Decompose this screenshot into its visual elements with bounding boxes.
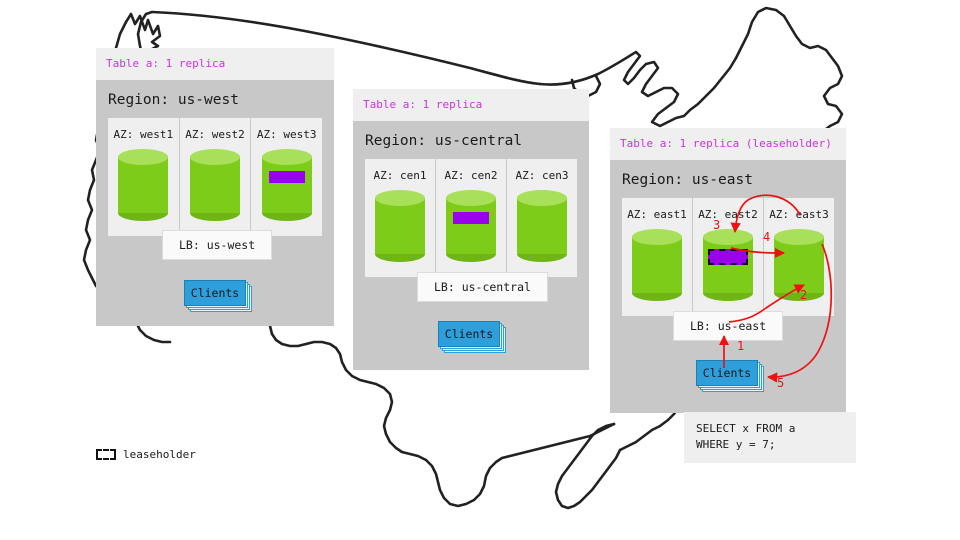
az-cell-east2[interactable]: AZ: east2	[692, 198, 763, 316]
cylinder-top	[190, 149, 240, 165]
node-cylinder-east1[interactable]	[632, 229, 682, 301]
az-label-cen1: AZ: cen1	[365, 159, 435, 182]
cylinder-top	[632, 229, 682, 245]
cylinder-top	[517, 190, 567, 206]
az-label-west3: AZ: west3	[251, 118, 322, 141]
cylinder-body	[632, 237, 682, 293]
step-number-4: 4	[763, 230, 770, 244]
cylinder-top	[375, 190, 425, 206]
node-cylinder-east2[interactable]	[703, 229, 753, 301]
az-cell-cen1[interactable]: AZ: cen1	[365, 159, 435, 277]
az-label-west2: AZ: west2	[180, 118, 251, 141]
az-label-cen2: AZ: cen2	[436, 159, 506, 182]
step-number-1: 1	[737, 339, 744, 353]
replica-marker-west3	[269, 171, 305, 183]
cylinder-top	[703, 229, 753, 245]
node-cylinder-cen2[interactable]	[446, 190, 496, 262]
region-panel-us-central: Table a: 1 replica Region: us-central AZ…	[353, 89, 589, 370]
clients-stack-us-west[interactable]: Clients	[184, 280, 246, 306]
legend: leaseholder	[96, 448, 196, 461]
replica-marker-east2-leaseholder	[708, 249, 748, 265]
diagram-canvas: Table a: 1 replica Region: us-west AZ: w…	[0, 0, 960, 540]
az-cell-cen2[interactable]: AZ: cen2	[435, 159, 506, 277]
node-cylinder-west1[interactable]	[118, 149, 168, 221]
region-title-us-west: Region: us-west	[96, 80, 334, 118]
table-replica-label-us-east: Table a: 1 replica (leaseholder)	[610, 128, 846, 160]
az-label-east1: AZ: east1	[622, 198, 692, 221]
clients-stack-us-central[interactable]: Clients	[438, 321, 500, 347]
az-label-east2: AZ: east2	[693, 198, 763, 221]
az-label-cen3: AZ: cen3	[507, 159, 577, 182]
cylinder-body	[703, 237, 753, 293]
cylinder-top	[118, 149, 168, 165]
table-replica-label-us-west: Table a: 1 replica	[96, 48, 334, 80]
cylinder-body	[517, 198, 567, 254]
table-replica-label-us-central: Table a: 1 replica	[353, 89, 589, 121]
az-cell-cen3[interactable]: AZ: cen3	[506, 159, 577, 277]
az-cell-west2[interactable]: AZ: west2	[179, 118, 251, 236]
az-cell-east3[interactable]: AZ: east3	[763, 198, 834, 316]
clients-stack-us-east[interactable]: Clients	[696, 360, 758, 386]
cylinder-body	[262, 157, 312, 213]
az-cell-east1[interactable]: AZ: east1	[622, 198, 692, 316]
leaseholder-swatch-icon	[96, 449, 116, 460]
replica-marker-cen2	[453, 212, 489, 224]
cylinder-top	[262, 149, 312, 165]
node-cylinder-west3[interactable]	[262, 149, 312, 221]
az-cell-west1[interactable]: AZ: west1	[108, 118, 179, 236]
step-number-2: 2	[800, 288, 807, 302]
legend-label-leaseholder: leaseholder	[123, 448, 196, 461]
clients-label-us-west: Clients	[184, 280, 246, 306]
load-balancer-us-east[interactable]: LB: us-east	[673, 311, 783, 341]
az-cell-west3[interactable]: AZ: west3	[250, 118, 322, 236]
region-title-us-east: Region: us-east	[610, 160, 846, 198]
cylinder-body	[190, 157, 240, 213]
sql-query-box: SELECT x FROM a WHERE y = 7;	[684, 412, 856, 463]
node-cylinder-west2[interactable]	[190, 149, 240, 221]
node-cylinder-cen1[interactable]	[375, 190, 425, 262]
az-label-east3: AZ: east3	[764, 198, 834, 221]
cylinder-body	[446, 198, 496, 254]
step-number-3: 3	[713, 218, 720, 232]
cylinder-body	[375, 198, 425, 254]
az-row-us-central: AZ: cen1 AZ: cen2 AZ: cen3	[365, 159, 577, 277]
region-panel-us-west: Table a: 1 replica Region: us-west AZ: w…	[96, 48, 334, 326]
step-number-5: 5	[777, 376, 784, 390]
region-panel-us-east: Table a: 1 replica (leaseholder) Region:…	[610, 128, 846, 413]
load-balancer-us-west[interactable]: LB: us-west	[162, 230, 272, 260]
region-title-us-central: Region: us-central	[353, 121, 589, 159]
az-label-west1: AZ: west1	[108, 118, 179, 141]
clients-label-us-central: Clients	[438, 321, 500, 347]
node-cylinder-east3[interactable]	[774, 229, 824, 301]
load-balancer-us-central[interactable]: LB: us-central	[417, 272, 548, 302]
cylinder-top	[774, 229, 824, 245]
node-cylinder-cen3[interactable]	[517, 190, 567, 262]
cylinder-body	[774, 237, 824, 293]
clients-label-us-east: Clients	[696, 360, 758, 386]
az-row-us-west: AZ: west1 AZ: west2 AZ: west3	[108, 118, 322, 236]
cylinder-body	[118, 157, 168, 213]
cylinder-top	[446, 190, 496, 206]
